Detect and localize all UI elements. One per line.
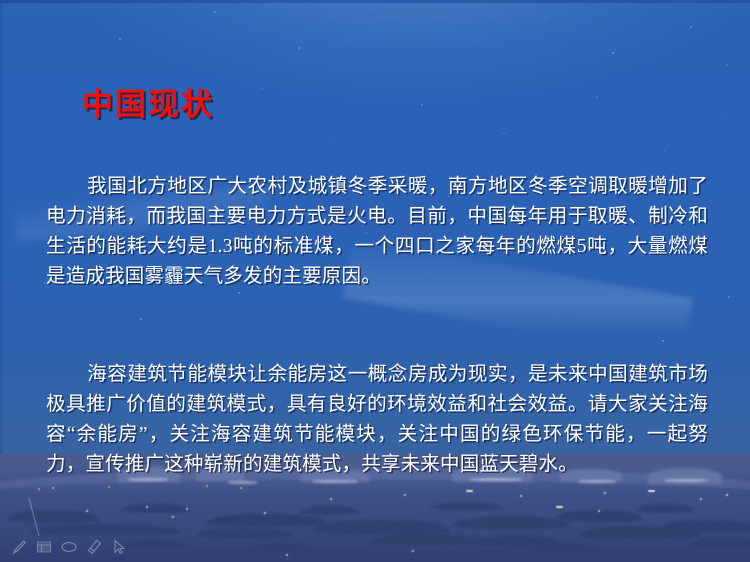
arrow-pointer-icon[interactable] — [109, 537, 128, 556]
slide-title: 中国现状 — [82, 87, 214, 123]
paragraph-2-text: 海容建筑节能模块让余能房这一概念房成为现实，是未来中国建筑市场极具推广价值的建筑… — [46, 364, 708, 475]
slide-top-edge — [0, 0, 750, 3]
pen-stroke-trace — [26, 496, 44, 538]
ellipse-icon[interactable] — [59, 537, 78, 556]
slide-thumbnail-icon[interactable] — [34, 537, 53, 556]
paragraph-1-text: 我国北方地区广大农村及城镇冬季采暖，南方地区冬季空调取暖增加了电力消耗，而我国主… — [46, 176, 708, 287]
highlighter-icon[interactable] — [84, 537, 103, 556]
body-paragraph-1: 我国北方地区广大农村及城镇冬季采暖，南方地区冬季空调取暖增加了电力消耗，而我国主… — [46, 172, 708, 292]
presenter-toolbar[interactable] — [9, 537, 128, 556]
presentation-slide: 中国现状 我国北方地区广大农村及城镇冬季采暖，南方地区冬季空调取暖增加了电力消耗… — [0, 0, 750, 562]
body-paragraph-2: 海容建筑节能模块让余能房这一概念房成为现实，是未来中国建筑市场极具推广价值的建筑… — [46, 360, 708, 480]
pen-icon[interactable] — [9, 537, 28, 556]
